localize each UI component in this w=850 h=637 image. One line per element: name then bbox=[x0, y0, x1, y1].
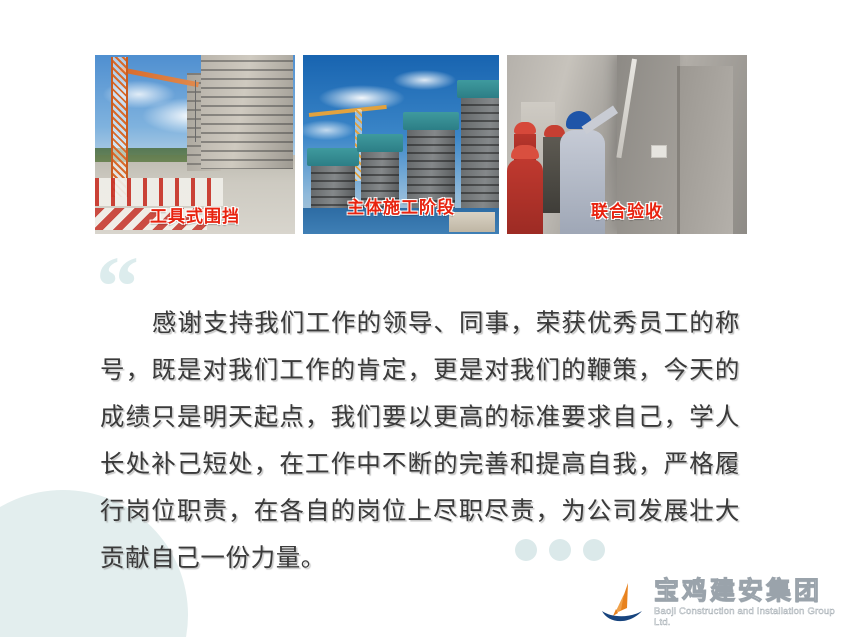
photo-1-crane-mast bbox=[111, 57, 128, 197]
photo-caption-3: 联合验收 bbox=[507, 197, 747, 222]
photo-1-building-main bbox=[201, 55, 293, 169]
photo-caption-1: 工具式围挡 bbox=[95, 202, 295, 227]
photo-caption-2: 主体施工阶段 bbox=[303, 193, 499, 218]
logo-company-name-cn: 宝鸡建安集团 bbox=[654, 578, 846, 604]
quote-body-text: 感谢支持我们工作的领导、同事，荣获优秀员工的称号，既是对我们工作的肯定，更是对我… bbox=[100, 300, 740, 582]
quote-text: 感谢支持我们工作的领导、同事，荣获优秀员工的称号，既是对我们工作的肯定，更是对我… bbox=[100, 310, 740, 572]
photo-3-wall-switch bbox=[651, 145, 667, 158]
logo-text-block: 宝鸡建安集团 Baoji Construction and Installati… bbox=[654, 578, 846, 628]
photo-construction-site-fence: 工具式围挡 bbox=[95, 55, 295, 234]
presentation-slide: 工具式围挡 主体施工阶段 联合验收 “ bbox=[0, 0, 850, 637]
company-logo: 宝鸡建安集团 Baoji Construction and Installati… bbox=[598, 575, 846, 631]
logo-company-name-en: Baoji Construction and Installation Grou… bbox=[654, 606, 846, 628]
sail-boat-logo-icon bbox=[598, 578, 648, 628]
photo-joint-acceptance-inspection: 联合验收 bbox=[507, 55, 747, 234]
photo-1-crane-wire bbox=[195, 80, 196, 142]
photo-strip: 工具式围挡 主体施工阶段 联合验收 bbox=[95, 55, 747, 234]
photo-main-structure-construction: 主体施工阶段 bbox=[303, 55, 499, 234]
